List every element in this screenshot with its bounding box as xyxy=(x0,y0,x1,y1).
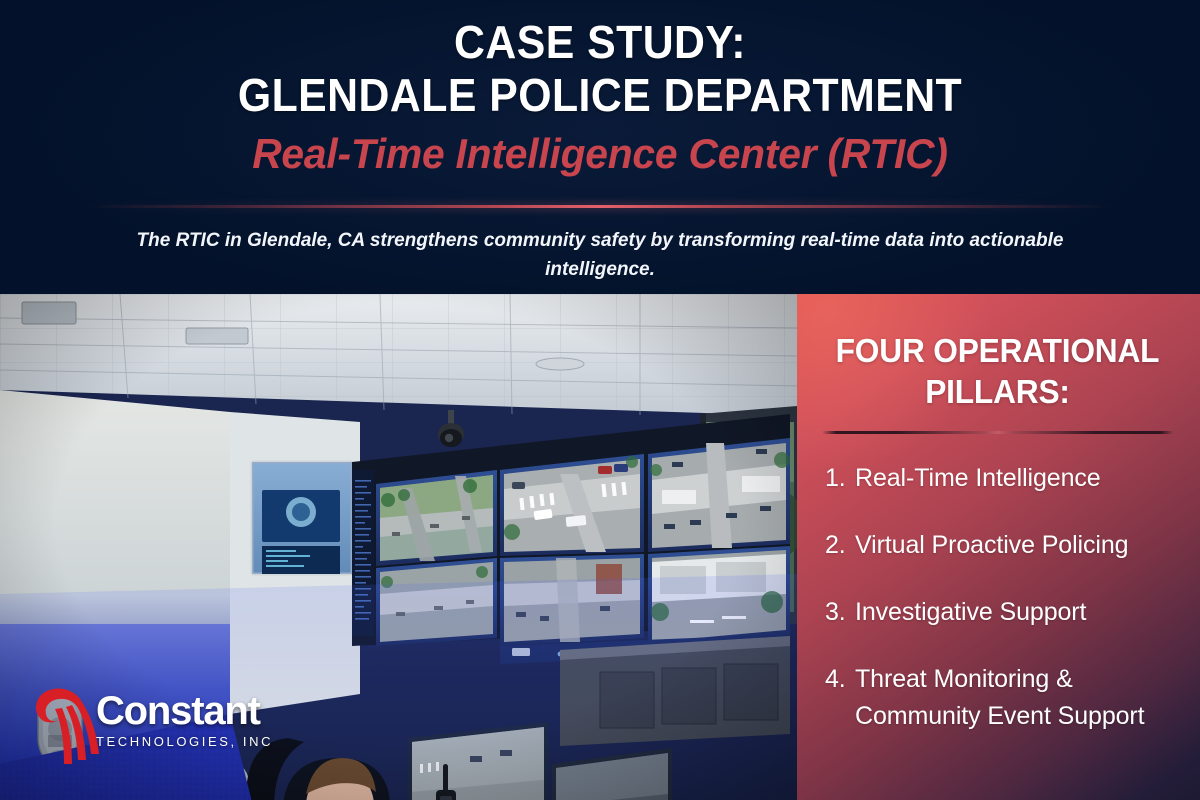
list-item: 4. Threat Monitoring & Community Event S… xyxy=(819,661,1176,735)
list-item: 1. Real-Time Intelligence xyxy=(819,460,1176,497)
logo-wordmark: Constant xyxy=(96,690,273,732)
list-item-label: Real-Time Intelligence xyxy=(855,460,1176,497)
list-item-label: Threat Monitoring & Community Event Supp… xyxy=(855,661,1176,735)
header-divider xyxy=(85,205,1115,208)
header-description: The RTIC in Glendale, CA strengthens com… xyxy=(100,226,1100,284)
logo-tagline: TECHNOLOGIES, INC xyxy=(96,733,273,751)
title-line-1: CASE STUDY: xyxy=(42,16,1158,69)
page-title: CASE STUDY: GLENDALE POLICE DEPARTMENT xyxy=(0,16,1200,122)
page-subtitle: Real-Time Intelligence Center (RTIC) xyxy=(18,128,1182,180)
constant-technologies-logo: Constant TECHNOLOGIES, INC xyxy=(28,676,278,772)
pillars-divider xyxy=(822,431,1174,434)
header-banner: CASE STUDY: GLENDALE POLICE DEPARTMENT R… xyxy=(0,0,1200,294)
list-item: 2. Virtual Proactive Policing xyxy=(819,527,1176,564)
four-operational-pillars-panel: FOUR OPERATIONAL PILLARS: 1. Real-Time I… xyxy=(797,294,1200,800)
list-item-label: Investigative Support xyxy=(855,594,1176,631)
case-study-graphic: CASE STUDY: GLENDALE POLICE DEPARTMENT R… xyxy=(0,0,1200,800)
pillars-heading: FOUR OPERATIONAL PILLARS: xyxy=(826,330,1169,412)
list-item: 3. Investigative Support xyxy=(819,594,1176,631)
list-item-number: 2. xyxy=(819,527,855,564)
list-item-number: 1. xyxy=(819,460,855,497)
list-item-label: Virtual Proactive Policing xyxy=(855,527,1176,564)
pillars-list: 1. Real-Time Intelligence 2. Virtual Pro… xyxy=(819,460,1176,735)
title-line-2: GLENDALE POLICE DEPARTMENT xyxy=(42,69,1158,122)
list-item-number: 3. xyxy=(819,594,855,631)
list-item-number: 4. xyxy=(819,661,855,698)
